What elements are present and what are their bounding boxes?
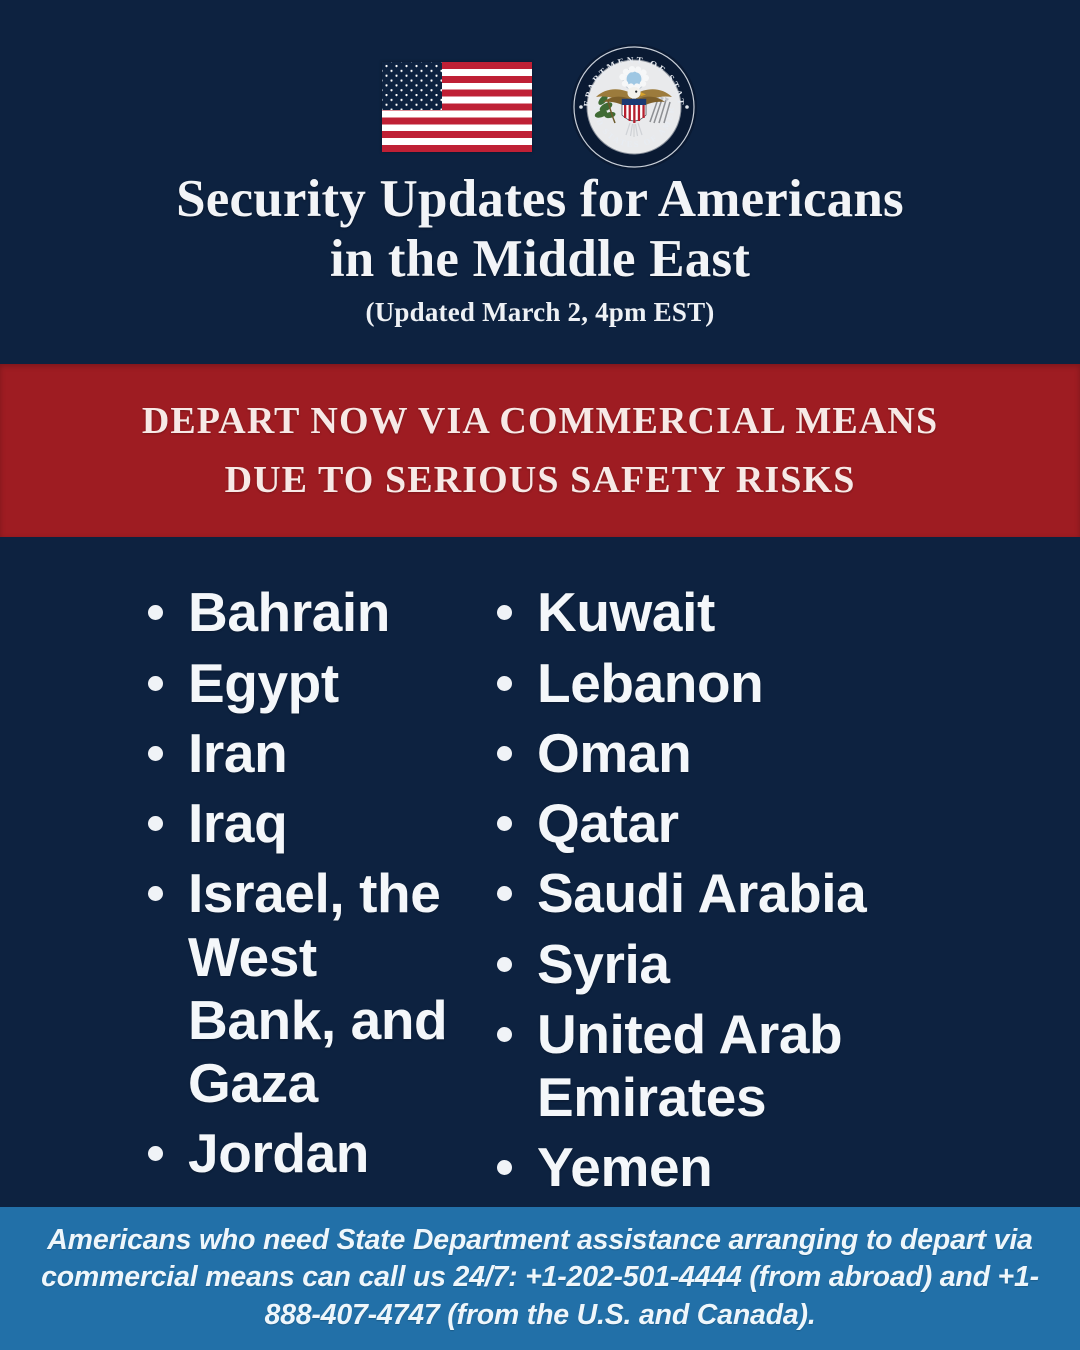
bullet-icon xyxy=(148,1146,163,1161)
page-title: Security Updates for Americans in the Mi… xyxy=(176,170,904,290)
country-name: Oman xyxy=(537,722,691,785)
emblem-row: DEPARTMENT OF STATE UNITED STATES OF AME… xyxy=(382,58,698,156)
country-name: Egypt xyxy=(188,652,339,715)
department-of-state-seal-icon: DEPARTMENT OF STATE UNITED STATES OF AME… xyxy=(570,43,698,171)
alert-banner: DEPART NOW VIA COMMERCIAL MEANS DUE TO S… xyxy=(0,364,1080,537)
list-item: Kuwait xyxy=(497,581,1080,644)
bullet-icon xyxy=(497,746,512,761)
contact-instructions: Americans who need State Department assi… xyxy=(38,1222,1042,1336)
country-name: Iraq xyxy=(188,792,287,855)
bullet-icon xyxy=(148,746,163,761)
title-line-2: in the Middle East xyxy=(176,230,904,290)
list-item: Saudi Arabia xyxy=(497,862,1080,925)
bullet-icon xyxy=(148,605,163,620)
bullet-icon xyxy=(497,816,512,831)
bullet-icon xyxy=(148,676,163,691)
list-item: United Arab Emirates xyxy=(497,1003,1080,1130)
bullet-icon xyxy=(497,886,512,901)
list-item: Egypt xyxy=(148,652,470,715)
country-name: Israel, the West Bank, and Gaza xyxy=(188,862,470,1115)
list-item: Lebanon xyxy=(497,652,1080,715)
list-item: Qatar xyxy=(497,792,1080,855)
poster-header: DEPARTMENT OF STATE UNITED STATES OF AME… xyxy=(0,0,1080,364)
country-name: Yemen xyxy=(537,1136,712,1199)
alert-line-2: DUE TO SERIOUS SAFETY RISKS xyxy=(225,451,856,510)
country-name: Iran xyxy=(188,722,287,785)
security-update-poster: DEPARTMENT OF STATE UNITED STATES OF AME… xyxy=(0,0,1080,1350)
bullet-icon xyxy=(148,886,163,901)
list-item: Yemen xyxy=(497,1136,1080,1199)
bullet-icon xyxy=(497,957,512,972)
country-name: Syria xyxy=(537,933,670,996)
bullet-icon xyxy=(497,1160,512,1175)
flag-stars xyxy=(382,62,442,110)
list-item: Syria xyxy=(497,933,1080,996)
update-timestamp: (Updated March 2, 4pm EST) xyxy=(366,297,715,328)
list-item: Jordan xyxy=(148,1122,470,1185)
country-list-left: Bahrain Egypt Iran Iraq Israel, the West… xyxy=(0,581,470,1206)
bullet-icon xyxy=(497,676,512,691)
list-item: Oman xyxy=(497,722,1080,785)
us-flag-icon xyxy=(382,62,532,152)
country-lists: Bahrain Egypt Iran Iraq Israel, the West… xyxy=(0,537,1080,1206)
country-name: Bahrain xyxy=(188,581,390,644)
list-item: Iraq xyxy=(148,792,470,855)
bullet-icon xyxy=(497,1027,512,1042)
bullet-icon xyxy=(497,605,512,620)
title-line-1: Security Updates for Americans xyxy=(176,170,904,230)
country-name: United Arab Emirates xyxy=(537,1003,1080,1130)
list-item: Iran xyxy=(148,722,470,785)
country-name: Jordan xyxy=(188,1122,369,1185)
country-name: Qatar xyxy=(537,792,679,855)
list-item: Israel, the West Bank, and Gaza xyxy=(148,862,470,1115)
bullet-icon xyxy=(148,816,163,831)
alert-line-1: DEPART NOW VIA COMMERCIAL MEANS xyxy=(142,392,938,451)
contact-footer: Americans who need State Department assi… xyxy=(0,1207,1080,1350)
country-name: Saudi Arabia xyxy=(537,862,866,925)
list-item: Bahrain xyxy=(148,581,470,644)
country-name: Lebanon xyxy=(537,652,763,715)
country-list-right: Kuwait Lebanon Oman Qatar Saudi Arabia S… xyxy=(470,581,1080,1206)
country-name: Kuwait xyxy=(537,581,715,644)
